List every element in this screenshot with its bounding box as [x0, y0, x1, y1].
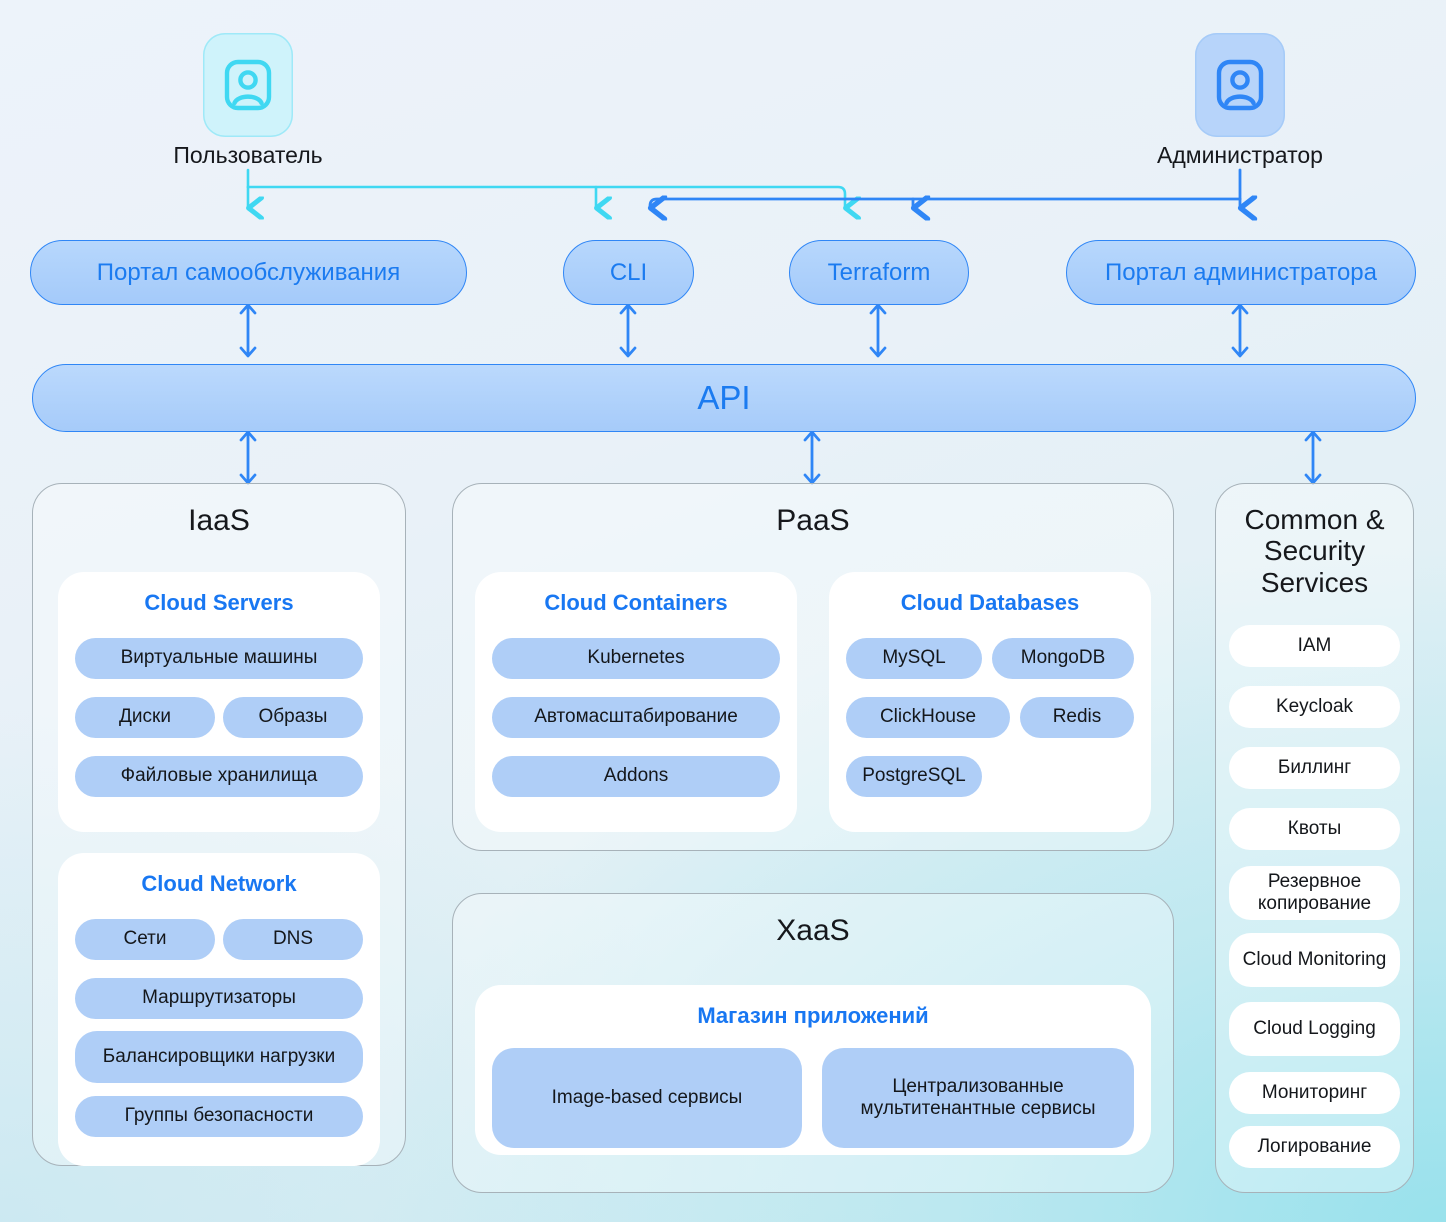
api-label: API: [697, 379, 750, 417]
service-pill-label: IAM: [1298, 635, 1332, 657]
service-pill-clickhouse[interactable]: ClickHouse: [846, 697, 1010, 738]
service-pill-addons[interactable]: Addons: [492, 756, 780, 797]
service-pill-cloud-logging[interactable]: Cloud Logging: [1229, 1002, 1400, 1056]
service-pill-dns[interactable]: DNS: [223, 919, 363, 960]
service-pill-file-storage[interactable]: Файловые хранилища: [75, 756, 363, 797]
service-pill-label: Cloud Monitoring: [1243, 949, 1387, 971]
service-pill-label: Keycloak: [1276, 696, 1353, 718]
access-item-label: Terraform: [828, 259, 931, 287]
access-item-cli[interactable]: CLI: [563, 240, 694, 305]
service-pill-label: Cloud Logging: [1253, 1018, 1376, 1040]
service-pill-label: Redis: [1053, 706, 1102, 728]
service-pill-mongodb[interactable]: MongoDB: [992, 638, 1134, 679]
service-pill-label: Балансировщики нагрузки: [103, 1046, 335, 1068]
service-pill-label: Маршрутизаторы: [142, 987, 296, 1009]
service-pill-monitoring[interactable]: Мониторинг: [1229, 1072, 1400, 1114]
service-pill-label: PostgreSQL: [862, 765, 966, 787]
service-pill-images[interactable]: Образы: [223, 697, 363, 738]
service-pill-label: Образы: [259, 706, 328, 728]
service-pill-logging[interactable]: Логирование: [1229, 1126, 1400, 1168]
panel-title-xaas: XaaS: [453, 914, 1173, 948]
diagram-canvas: Пользователь Администратор Портал самооб…: [0, 0, 1446, 1222]
service-pill-label: Квоты: [1288, 818, 1341, 840]
service-pill-label: MongoDB: [1021, 647, 1106, 669]
service-pill-cloud-monitoring[interactable]: Cloud Monitoring: [1229, 933, 1400, 987]
service-pill-centralized-multitenant-services[interactable]: Централизованные мультитенантные сервисы: [822, 1048, 1134, 1148]
service-pill-label: Биллинг: [1278, 757, 1351, 779]
service-pill-autoscaling[interactable]: Автомасштабирование: [492, 697, 780, 738]
service-pill-image-based-services[interactable]: Image-based сервисы: [492, 1048, 802, 1148]
user-connector: [248, 170, 845, 208]
user-avatar-icon: [203, 33, 293, 137]
api-bar[interactable]: API: [32, 364, 1416, 432]
service-pill-iam[interactable]: IAM: [1229, 625, 1400, 667]
service-pill-label: Группы безопасности: [125, 1105, 314, 1127]
card-title-app-store: Магазин приложений: [475, 1003, 1151, 1029]
admin-label: Администратор: [1120, 142, 1360, 169]
service-pill-label: Централизованные мультитенантные сервисы: [830, 1076, 1126, 1121]
service-pill-postgresql[interactable]: PostgreSQL: [846, 756, 982, 797]
service-pill-backup[interactable]: Резервное копирование: [1229, 866, 1400, 920]
service-pill-label: Логирование: [1258, 1136, 1372, 1158]
service-pill-label: Мониторинг: [1262, 1082, 1367, 1104]
service-pill-virtual-machines[interactable]: Виртуальные машины: [75, 638, 363, 679]
access-item-terraform[interactable]: Terraform: [789, 240, 969, 305]
service-pill-label: MySQL: [882, 647, 945, 669]
service-pill-kubernetes[interactable]: Kubernetes: [492, 638, 780, 679]
service-pill-label: ClickHouse: [880, 706, 976, 728]
card-title-cloud-databases: Cloud Databases: [829, 590, 1151, 616]
service-pill-label: Файловые хранилища: [121, 765, 318, 787]
card-title-cloud-servers: Cloud Servers: [58, 590, 380, 616]
service-pill-billing[interactable]: Биллинг: [1229, 747, 1400, 789]
service-pill-label: DNS: [273, 928, 313, 950]
card-title-cloud-network: Cloud Network: [58, 871, 380, 897]
card-title-cloud-containers: Cloud Containers: [475, 590, 797, 616]
service-pill-label: Kubernetes: [587, 647, 684, 669]
service-pill-mysql[interactable]: MySQL: [846, 638, 982, 679]
pill-api-arrows: [241, 305, 1247, 356]
service-pill-quotas[interactable]: Квоты: [1229, 808, 1400, 850]
api-column-arrows: [241, 432, 1320, 483]
service-pill-label: Виртуальные машины: [121, 647, 318, 669]
access-item-label: Портал самообслуживания: [97, 259, 400, 287]
user-label: Пользователь: [128, 142, 368, 169]
access-item-self-service-portal[interactable]: Портал самообслуживания: [30, 240, 467, 305]
service-pill-label: Автомасштабирование: [534, 706, 738, 728]
service-pill-label: Сети: [124, 928, 167, 950]
service-pill-load-balancers[interactable]: Балансировщики нагрузки: [75, 1031, 363, 1083]
admin-avatar-icon: [1195, 33, 1285, 137]
access-item-admin-portal[interactable]: Портал администратора: [1066, 240, 1416, 305]
admin-connector: [650, 170, 1240, 208]
panel-title-common-security-services: Common & Security Services: [1216, 504, 1413, 598]
service-pill-keycloak[interactable]: Keycloak: [1229, 686, 1400, 728]
service-pill-routers[interactable]: Маршрутизаторы: [75, 978, 363, 1019]
service-pill-label: Диски: [119, 706, 171, 728]
service-pill-disks[interactable]: Диски: [75, 697, 215, 738]
access-item-label: CLI: [610, 259, 647, 287]
service-pill-label: Image-based сервисы: [552, 1087, 743, 1109]
panel-title-iaas: IaaS: [33, 504, 405, 538]
service-pill-label: Резервное копирование: [1235, 871, 1394, 915]
service-pill-label: Addons: [604, 765, 668, 787]
access-item-label: Портал администратора: [1105, 259, 1377, 287]
panel-title-paas: PaaS: [453, 504, 1173, 538]
service-pill-redis[interactable]: Redis: [1020, 697, 1134, 738]
service-pill-networks[interactable]: Сети: [75, 919, 215, 960]
service-pill-security-groups[interactable]: Группы безопасности: [75, 1096, 363, 1137]
